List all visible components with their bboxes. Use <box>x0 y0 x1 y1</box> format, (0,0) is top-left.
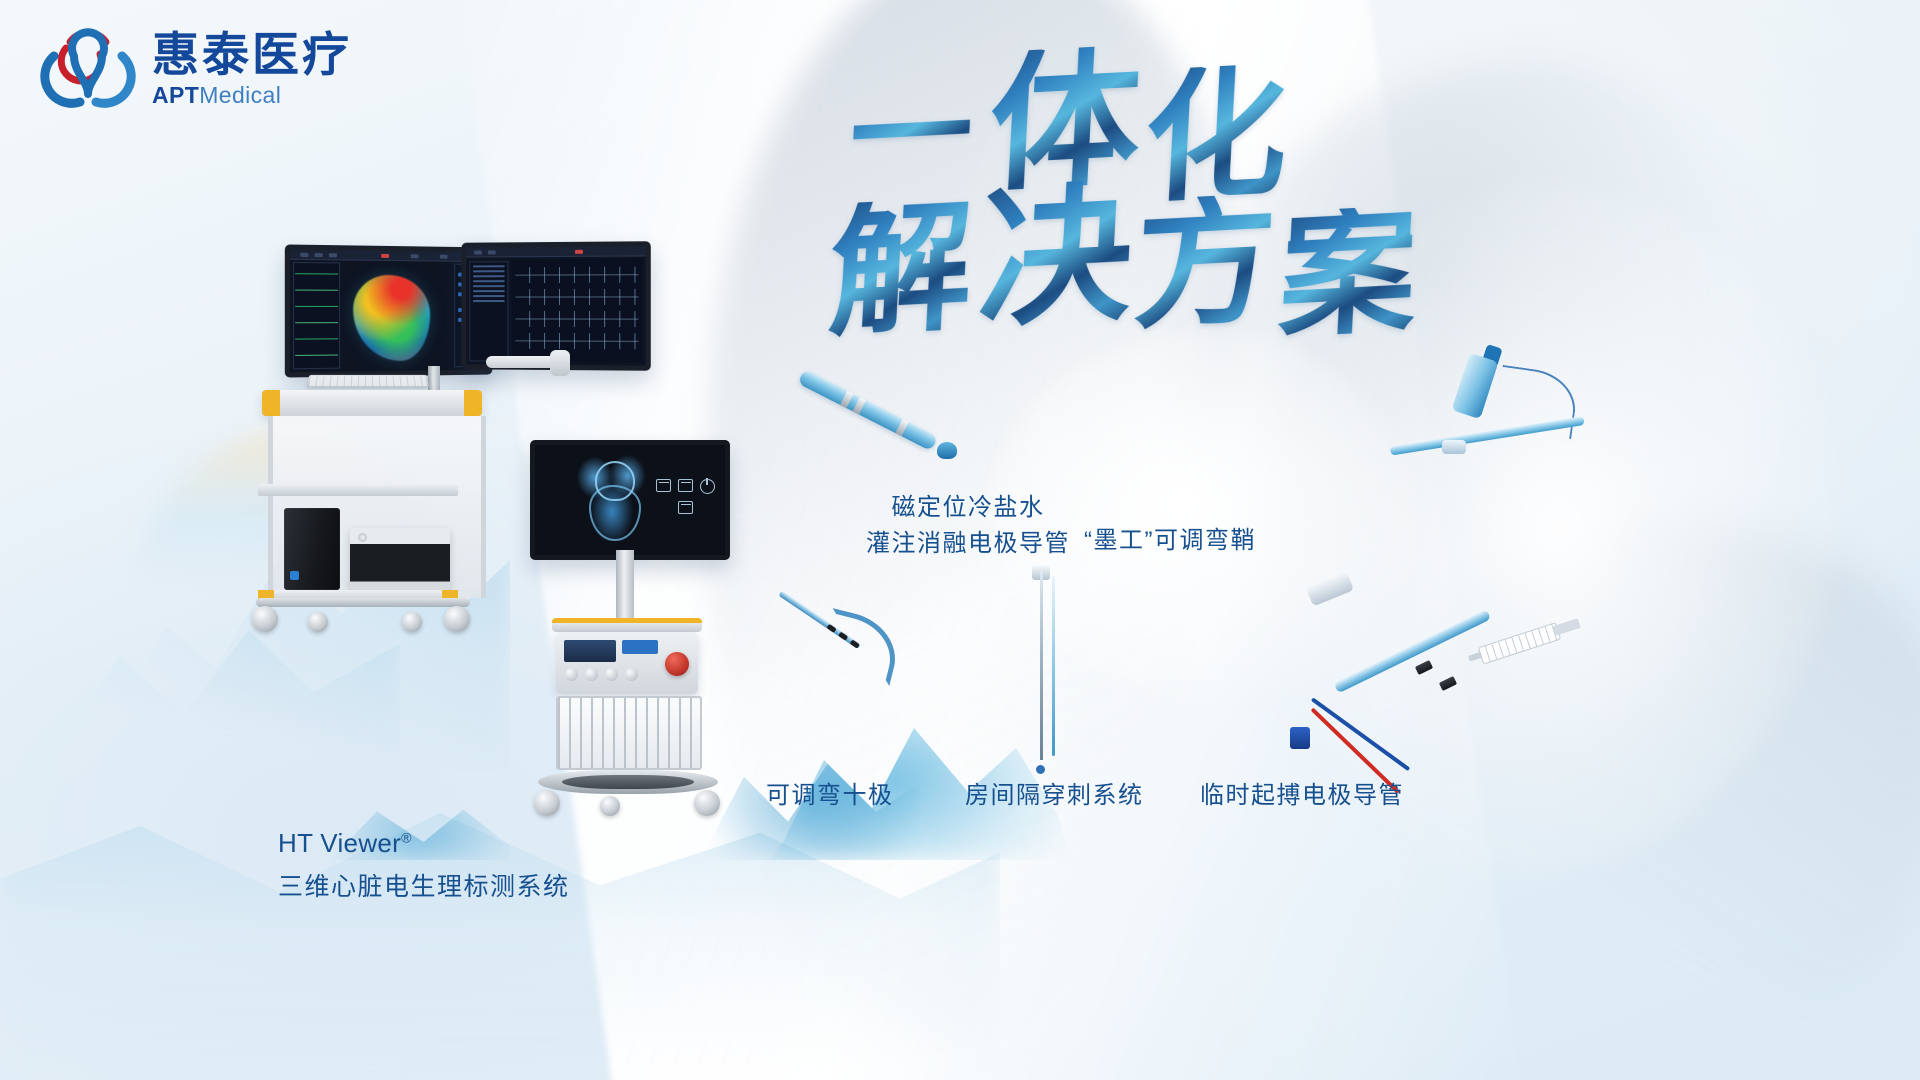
caster-wheel <box>252 606 278 632</box>
caption-irrigated-ablation-catheter: 磁定位冷盐水 灌注消融电极导管 <box>866 490 1070 562</box>
ecg-channel-list <box>469 261 508 361</box>
caster-wheel <box>308 612 328 632</box>
storage-basket <box>556 696 702 770</box>
workstation-caption: HT Viewer® 三维心脏电生理标测系统 <box>278 828 570 903</box>
ablation-catheter-icon <box>795 360 965 490</box>
caption-line-1: 可调弯十极 <box>766 775 894 810</box>
headline-calligraphy: 一 体 化 解 决 方 案 <box>960 40 1620 360</box>
brand-logo-text: 惠泰医疗 APTMedical <box>152 30 352 110</box>
poster-canvas: 惠泰医疗 APTMedical 一 体 化 解 决 方 案 <box>0 0 1920 1080</box>
display-pole <box>616 550 634 620</box>
workstation-keyboard[interactable] <box>307 375 430 388</box>
brand-name-en-bold: APT <box>152 82 199 108</box>
generator-control-box <box>556 632 698 694</box>
apt-medical-circles-logo <box>40 22 136 118</box>
printer <box>350 528 450 590</box>
caption-line-1: 磁定位冷盐水 <box>866 490 1070 526</box>
mapping-screen <box>290 250 488 373</box>
heart-display-monitor <box>530 440 730 560</box>
mapping-toolbar <box>290 250 488 262</box>
caption-line-1: 临时起搏电极导管 <box>1200 775 1404 810</box>
headline-char-5: 决 <box>976 178 1137 338</box>
control-knob[interactable] <box>665 652 689 676</box>
brand-name-en: APTMedical <box>152 82 352 110</box>
caption-decapolar-catheter: 可调弯十极 <box>766 775 894 810</box>
caption-steerable-sheath: “墨工”可调弯鞘 <box>1084 520 1256 555</box>
mapping-ecg-panel <box>293 262 340 369</box>
cart-top-shelf <box>262 390 482 416</box>
display-cart-base <box>538 770 718 810</box>
transseptal-needle-icon <box>1010 570 1080 770</box>
heart-display-cart <box>530 440 760 850</box>
decapolar-catheter-icon <box>780 590 900 680</box>
caption-line-1: “墨工”可调弯鞘 <box>1084 520 1256 555</box>
steerable-sheath-icon <box>1380 352 1610 512</box>
heart-illustration-icon <box>573 455 651 541</box>
catheter-tip <box>937 442 957 459</box>
pacing-connector-plug <box>1290 727 1310 749</box>
brand-logo: 惠泰医疗 APTMedical <box>40 22 352 118</box>
monitor-arm-joint <box>550 350 570 376</box>
window-icon[interactable] <box>678 479 693 492</box>
caster-wheel <box>694 790 720 816</box>
ecg-screen <box>466 246 645 365</box>
workstation-caption-en-text: HT Viewer <box>278 828 401 858</box>
ecg-waveform-area <box>511 258 642 362</box>
syringe-icon <box>1477 613 1583 666</box>
cardiac-activation-map <box>353 275 430 362</box>
control-display <box>564 640 616 662</box>
headline-char-1: 一 <box>847 73 976 201</box>
cart-base <box>256 598 470 624</box>
caption-transseptal-puncture-system: 房间隔穿刺系统 <box>965 775 1144 810</box>
caption-line-1: 房间隔穿刺系统 <box>965 775 1144 810</box>
display-cart-tray <box>552 618 702 632</box>
display-icon-group <box>656 479 715 514</box>
workstation-caption-cn: 三维心脏电生理标测系统 <box>278 867 570 903</box>
headline-char-7: 案 <box>1276 205 1420 348</box>
caster-wheel <box>444 606 470 632</box>
caster-wheel <box>534 790 560 816</box>
control-button-row[interactable] <box>565 668 638 681</box>
control-display-secondary <box>622 640 658 654</box>
brand-name-en-light: Medical <box>199 82 281 108</box>
headline-char-4: 解 <box>826 196 976 345</box>
window-icon[interactable] <box>656 479 671 492</box>
cart-middle-shelf <box>258 484 458 496</box>
caption-line-2: 灌注消融电极导管 <box>866 526 1070 562</box>
caster-wheel <box>402 612 422 632</box>
caption-temporary-pacing-catheter: 临时起搏电极导管 <box>1200 775 1404 810</box>
brand-name-cn: 惠泰医疗 <box>152 30 352 79</box>
ecg-toolbar <box>466 246 645 257</box>
settings-icon[interactable] <box>678 501 693 514</box>
registered-mark: ® <box>401 829 412 845</box>
headline-char-6: 方 <box>1131 192 1279 339</box>
pacing-catheter-icon <box>1290 575 1600 805</box>
power-icon[interactable] <box>700 479 715 494</box>
workstation-caption-en: HT Viewer® <box>278 828 570 859</box>
caster-wheel <box>600 796 620 816</box>
pc-tower <box>284 508 340 590</box>
